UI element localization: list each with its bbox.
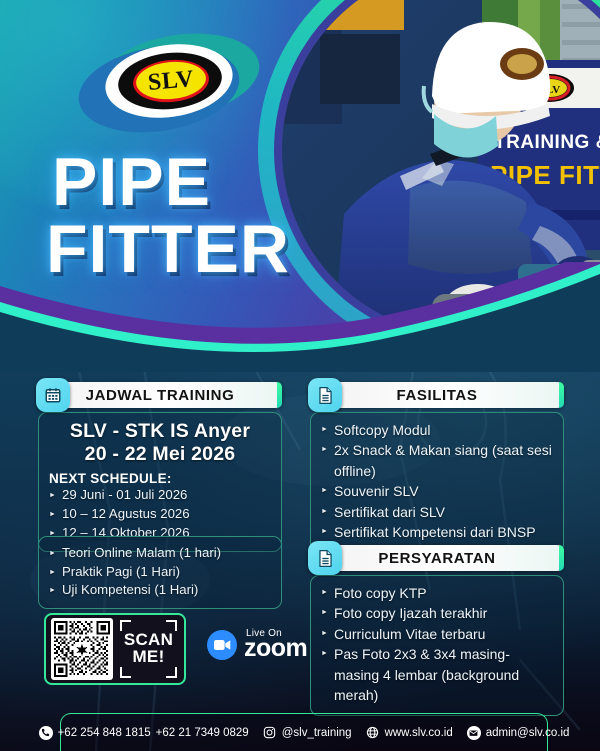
zoom-wordmark: zoom (244, 636, 307, 661)
globe-icon (366, 726, 380, 740)
card-fasilitas-body: Softcopy Modul 2x Snack & Makan siang (s… (310, 412, 564, 553)
document-icon (308, 541, 342, 575)
list-item: 2x Snack & Makan siang (saat sesi offlin… (321, 440, 553, 481)
corner-bracket-icon (166, 667, 177, 678)
document-icon (308, 378, 342, 412)
card-jadwal-title: JADWAL TRAINING (86, 387, 235, 404)
footer-email[interactable]: admin@slv.co.id (467, 726, 570, 740)
list-item: Souvenir SLV (321, 481, 553, 501)
instagram-icon (263, 726, 277, 740)
qr-scan-block[interactable]: SCAN ME! (44, 613, 186, 685)
zoom-text: Live On zoom (244, 628, 307, 661)
footer-email-text: admin@slv.co.id (486, 727, 570, 739)
card-fasilitas-title: FASILITAS (397, 387, 478, 404)
card-fasilitas-header: FASILITAS (310, 382, 564, 408)
list-item: Curriculum Vitae terbaru (321, 624, 553, 644)
swoosh-divider (0, 262, 600, 372)
svg-text:TRAINING & SERTIFIKA: TRAINING & SERTIFIKA (494, 132, 600, 153)
qr-code-icon[interactable] (51, 618, 113, 680)
envelope-icon (467, 726, 481, 740)
card-jadwal-body: SLV - STK IS Anyer 20 - 22 Mei 2026 NEXT… (38, 412, 282, 552)
schedule-main-line2: 20 - 22 Mei 2026 (49, 443, 271, 466)
footer-phone-2[interactable]: +62 21 7349 0829 (156, 727, 249, 739)
video-camera-icon (207, 630, 237, 660)
next-schedule-list: 29 Juni - 01 Juli 2026 10 – 12 Agustus 2… (49, 486, 271, 542)
list-item: Teori Online Malam (1 hari) (49, 544, 271, 563)
schedule-main-line1: SLV - STK IS Anyer (49, 420, 271, 443)
next-schedule-label: NEXT SCHEDULE: (49, 471, 271, 486)
card-jadwal-training: JADWAL TRAINING SLV - STK IS Anyer 20 - … (38, 382, 282, 552)
fasilitas-list: Softcopy Modul 2x Snack & Makan siang (s… (321, 420, 553, 543)
footer-instagram-text: @slv_training (282, 727, 352, 739)
footer-phone-2-text: +62 21 7349 0829 (156, 727, 249, 739)
scan-line2: ME! (132, 649, 164, 666)
hero-title-line1: PIPE (52, 150, 290, 215)
list-item: Softcopy Modul (321, 420, 553, 440)
calendar-icon (36, 378, 70, 412)
list-item: 10 – 12 Agustus 2026 (49, 505, 271, 524)
card-jadwal-header: JADWAL TRAINING (38, 382, 282, 408)
footer-website-text: www.slv.co.id (385, 727, 453, 739)
live-on-zoom: Live On zoom (207, 628, 307, 661)
logo-text: SLV (135, 60, 208, 103)
list-item: Sertifikat Kompetensi dari BNSP (321, 522, 553, 542)
slv-logo: SLV (78, 33, 260, 131)
list-item: Pas Foto 2x3 & 3x4 masing-masing 4 lemba… (321, 644, 553, 705)
schedule-sessions-box: Teori Online Malam (1 hari) Praktik Pagi… (38, 536, 282, 609)
list-item: Foto copy KTP (321, 583, 553, 603)
list-item: Foto copy Ijazah terakhir (321, 603, 553, 623)
poster-root: SLV ✔ TRAINING & SERTIFIKA PIPE FITTER (0, 0, 600, 751)
corner-bracket-icon (120, 667, 131, 678)
list-item: 29 Juni - 01 Juli 2026 (49, 486, 271, 505)
footer-website[interactable]: www.slv.co.id (366, 726, 453, 740)
phone-icon (39, 726, 53, 740)
scan-me-label: SCAN ME! (118, 618, 179, 680)
corner-bracket-icon (120, 620, 131, 631)
list-item: Praktik Pagi (1 Hari) (49, 563, 271, 582)
corner-bracket-icon (166, 620, 177, 631)
footer-instagram[interactable]: @slv_training (263, 726, 352, 740)
card-persyaratan-header: PERSYARATAN (310, 545, 564, 571)
card-fasilitas: FASILITAS Softcopy Modul 2x Snack & Maka… (310, 382, 564, 553)
card-persyaratan: PERSYARATAN Foto copy KTP Foto copy Ijaz… (310, 545, 564, 716)
persyaratan-list: Foto copy KTP Foto copy Ijazah terakhir … (321, 583, 553, 706)
footer-phone-1-text: +62 254 848 1815 (58, 727, 151, 739)
card-persyaratan-title: PERSYARATAN (378, 550, 495, 567)
footer-phone-1[interactable]: +62 254 848 1815 (39, 726, 151, 740)
footer-contact-bar: +62 254 848 1815 +62 21 7349 0829 @slv_t… (60, 713, 548, 751)
list-item: Sertifikat dari SLV (321, 502, 553, 522)
card-persyaratan-body: Foto copy KTP Foto copy Ijazah terakhir … (310, 575, 564, 716)
list-item: Uji Kompetensi (1 Hari) (49, 581, 271, 600)
schedule-sessions-list: Teori Online Malam (1 hari) Praktik Pagi… (49, 544, 271, 600)
